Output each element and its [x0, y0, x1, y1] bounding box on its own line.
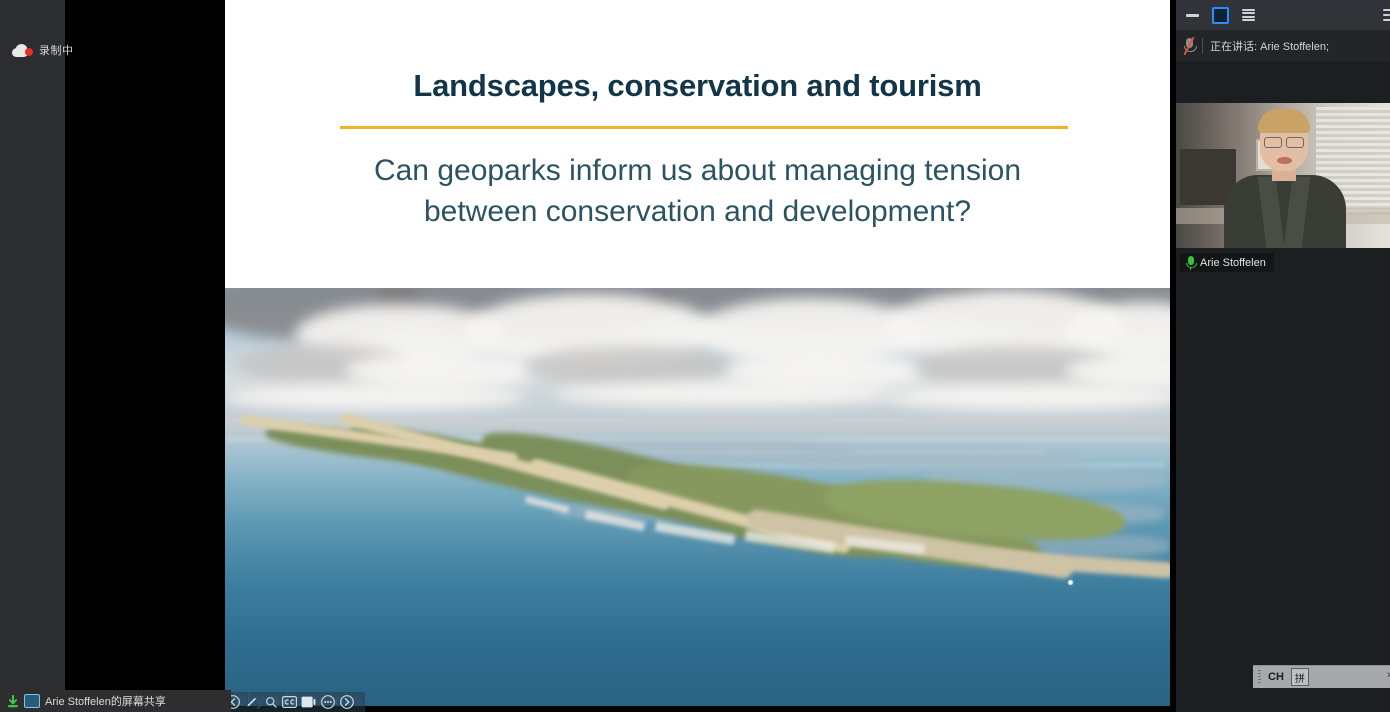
taskbar-shared-screen-item[interactable]: Arie Stoffelen的屏幕共享	[0, 690, 231, 712]
slide-text-area: Landscapes, conservation and tourism Can…	[225, 0, 1170, 288]
slide-subtitle-line-1: Can geoparks inform us about managing te…	[285, 150, 1110, 191]
desktop-left-strip	[0, 0, 65, 712]
magnifier-icon[interactable]	[263, 695, 278, 710]
microphone-on-icon	[1186, 256, 1195, 270]
panel-expand-icon[interactable]	[1383, 8, 1390, 22]
active-speaker-bar: 正在讲话: Arie Stoffelen;	[1176, 30, 1390, 62]
glasses-icon	[1264, 137, 1304, 146]
speaker-bar-divider	[1202, 38, 1203, 54]
download-icon	[6, 695, 19, 708]
minimize-button[interactable]	[1184, 7, 1201, 23]
ellipsis-icon[interactable]	[320, 695, 335, 710]
slide-photo-aerial-island	[225, 288, 1170, 706]
active-speaker-label: 正在讲话: Arie Stoffelen;	[1210, 38, 1329, 54]
participant-video-tile[interactable]	[1176, 103, 1390, 248]
list-view-icon[interactable]	[1240, 7, 1257, 23]
drag-grip-icon[interactable]	[1258, 670, 1261, 684]
slide-subtitle: Can geoparks inform us about managing te…	[285, 150, 1110, 232]
pen-icon[interactable]	[244, 695, 259, 710]
title-underline-rule	[340, 126, 1068, 129]
boat-speck	[1068, 580, 1073, 585]
ime-input-mode-button[interactable]: 拼	[1291, 668, 1309, 686]
microphone-muted-icon[interactable]	[1184, 38, 1195, 54]
zoom-meeting-panel: 正在讲话: Arie Stoffelen; Arie Stoffelen	[1176, 0, 1390, 712]
participant-name-label: Arie Stoffelen	[1200, 257, 1266, 269]
zoom-titlebar	[1176, 0, 1390, 30]
gallery-empty-area	[1176, 278, 1328, 668]
monitor-icon	[24, 694, 40, 708]
recording-dot-icon	[25, 48, 33, 56]
recording-cloud-icon	[12, 44, 34, 57]
arrow-right-icon[interactable]	[339, 695, 354, 710]
screen-icon[interactable]	[301, 695, 316, 710]
participant-hair	[1258, 109, 1310, 133]
participant-name-badge: Arie Stoffelen	[1180, 253, 1274, 272]
ime-language-bar[interactable]: CH 拼 »	[1253, 665, 1390, 688]
taskbar-item-label: Arie Stoffelen的屏幕共享	[45, 693, 166, 709]
slide-subtitle-line-2: between conservation and development?	[285, 191, 1110, 232]
recording-label: 录制中	[39, 42, 74, 58]
participant-mouth	[1277, 157, 1292, 164]
screen-root: 录制中 Landscapes, conservation and tourism…	[0, 0, 1390, 712]
recording-indicator: 录制中	[12, 40, 74, 60]
slide-title: Landscapes, conservation and tourism	[225, 68, 1170, 104]
shared-slide: Landscapes, conservation and tourism Can…	[225, 0, 1170, 706]
ime-language-label[interactable]: CH	[1268, 671, 1284, 683]
presenter-toolbar[interactable]	[222, 692, 365, 712]
maximize-button[interactable]	[1212, 7, 1229, 23]
closed-caption-icon[interactable]	[282, 695, 297, 710]
